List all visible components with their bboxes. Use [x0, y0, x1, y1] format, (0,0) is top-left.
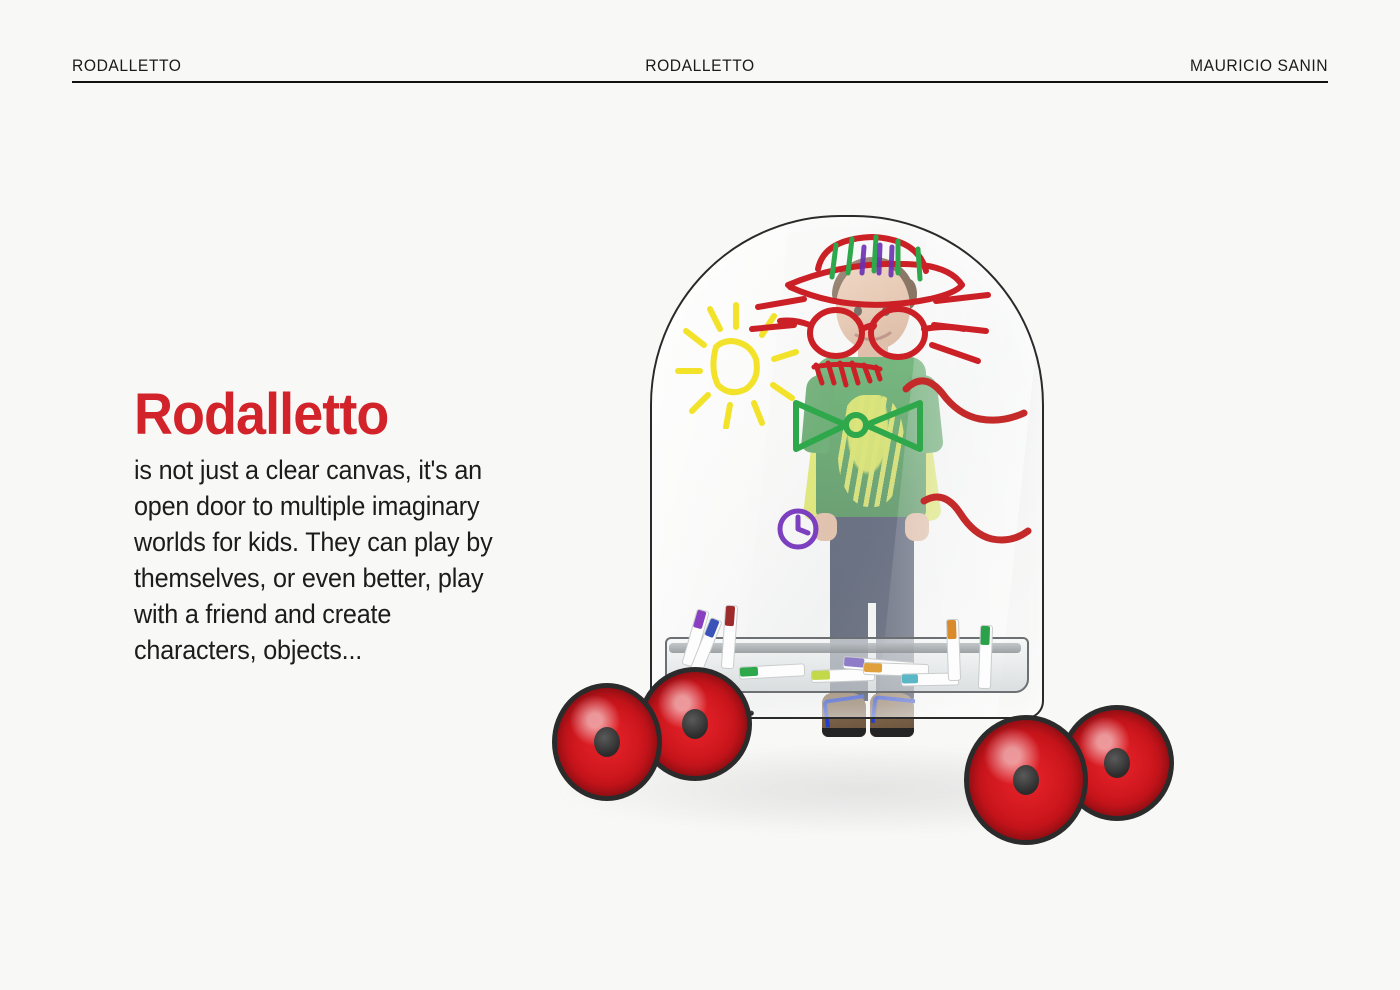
watch-drawing	[772, 503, 828, 555]
slide-page: RODALLETTO RODALLETTO MAURICIO SANIN Rod…	[0, 0, 1400, 990]
wheel-hub	[1104, 748, 1130, 778]
marker-cap	[812, 670, 830, 680]
header-left-label: RODALLETTO	[72, 56, 182, 76]
body-copy: is not just a clear canvas, it's an open…	[134, 452, 524, 668]
header-right-label: MAURICIO SANIN	[1190, 56, 1328, 76]
marker-cap	[693, 610, 707, 630]
marker-cap	[947, 620, 957, 639]
header-row: RODALLETTO RODALLETTO MAURICIO SANIN	[72, 52, 1328, 76]
wheel-rear-left[interactable]	[964, 715, 1088, 845]
wheel-hub	[682, 709, 708, 739]
marker-cap	[980, 626, 990, 645]
description-block: Rodalletto is not just a clear canvas, i…	[134, 386, 544, 668]
page-title: Rodalletto	[134, 386, 515, 444]
header-divider	[72, 81, 1328, 83]
wheel-hub	[594, 727, 620, 757]
page-header: RODALLETTO RODALLETTO MAURICIO SANIN	[72, 52, 1328, 86]
marker-cap	[844, 657, 865, 668]
marker-orange-2[interactable]	[946, 619, 961, 681]
marker-cap	[864, 663, 882, 673]
marker-cap	[725, 606, 735, 627]
product-photo	[520, 215, 1200, 855]
marker-green-2[interactable]	[978, 625, 993, 689]
marker-cap	[902, 674, 918, 683]
marker-cap	[740, 667, 758, 677]
wheel-front-left[interactable]	[552, 683, 662, 801]
header-center-label: RODALLETTO	[645, 56, 755, 76]
wheel-hub	[1013, 765, 1039, 795]
beard-drawing	[810, 359, 890, 393]
